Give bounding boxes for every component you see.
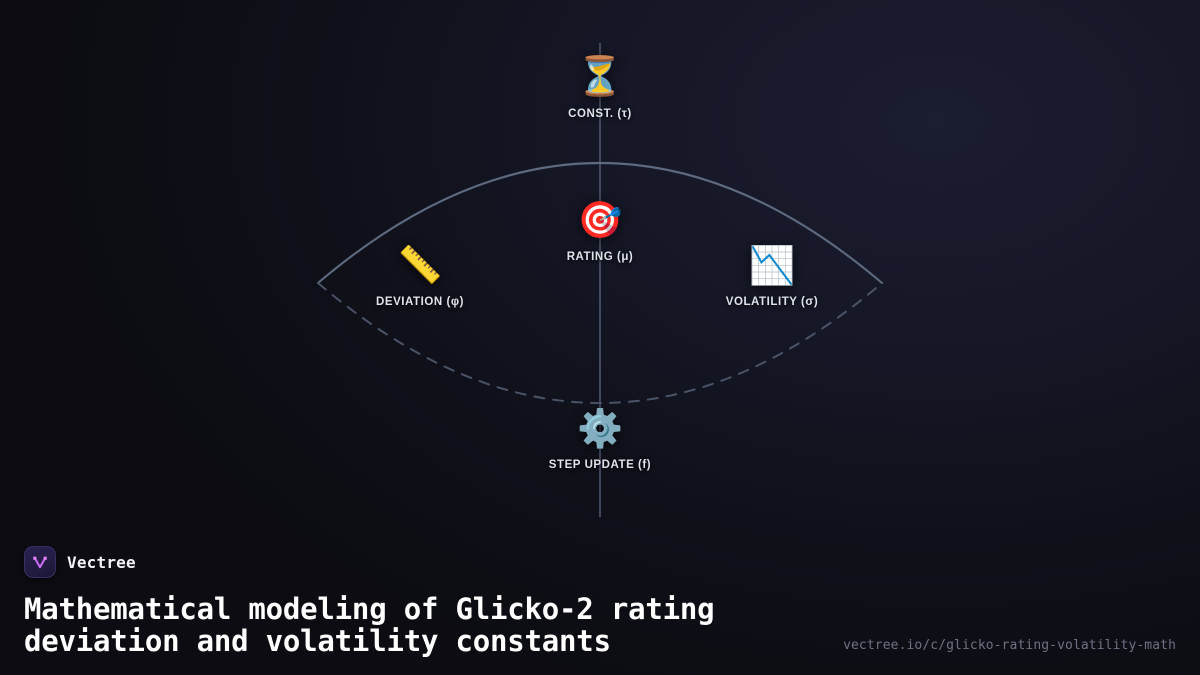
node-const[interactable]: ⏳ CONST. (τ) — [470, 55, 730, 120]
straight-ruler-icon: 📏 — [398, 243, 443, 287]
hourglass-icon: ⏳ — [576, 55, 623, 99]
node-rating-label: RATING (μ) — [567, 251, 634, 263]
node-deviation[interactable]: 📏 DEVIATION (φ) — [290, 243, 550, 308]
node-step-update-label: STEP UPDATE (f) — [549, 459, 651, 471]
brand[interactable]: Vectree — [24, 546, 1176, 578]
footer: Vectree Mathematical modeling of Glicko-… — [0, 546, 1200, 675]
target-dart-icon: 🎯 — [578, 198, 623, 242]
node-volatility[interactable]: 📉 VOLATILITY (σ) — [642, 243, 902, 308]
infographic-canvas: ⏳ CONST. (τ) 🎯 RATING (μ) 📏 DEVIATION (φ… — [0, 0, 1200, 675]
node-step-update[interactable]: ⚙️ STEP UPDATE (f) — [470, 406, 730, 471]
brand-name: Vectree — [67, 553, 136, 572]
vectree-mark — [30, 552, 50, 572]
page-title: Mathematical modeling of Glicko-2 rating… — [24, 593, 784, 657]
node-deviation-label: DEVIATION (φ) — [376, 296, 464, 308]
source-url: vectree.io/c/glicko-rating-volatility-ma… — [843, 638, 1176, 653]
chart-decreasing-icon: 📉 — [749, 243, 795, 287]
vectree-logo-icon — [24, 546, 56, 578]
gear-icon: ⚙️ — [577, 406, 623, 450]
node-volatility-label: VOLATILITY (σ) — [726, 296, 818, 308]
node-const-label: CONST. (τ) — [568, 108, 632, 120]
